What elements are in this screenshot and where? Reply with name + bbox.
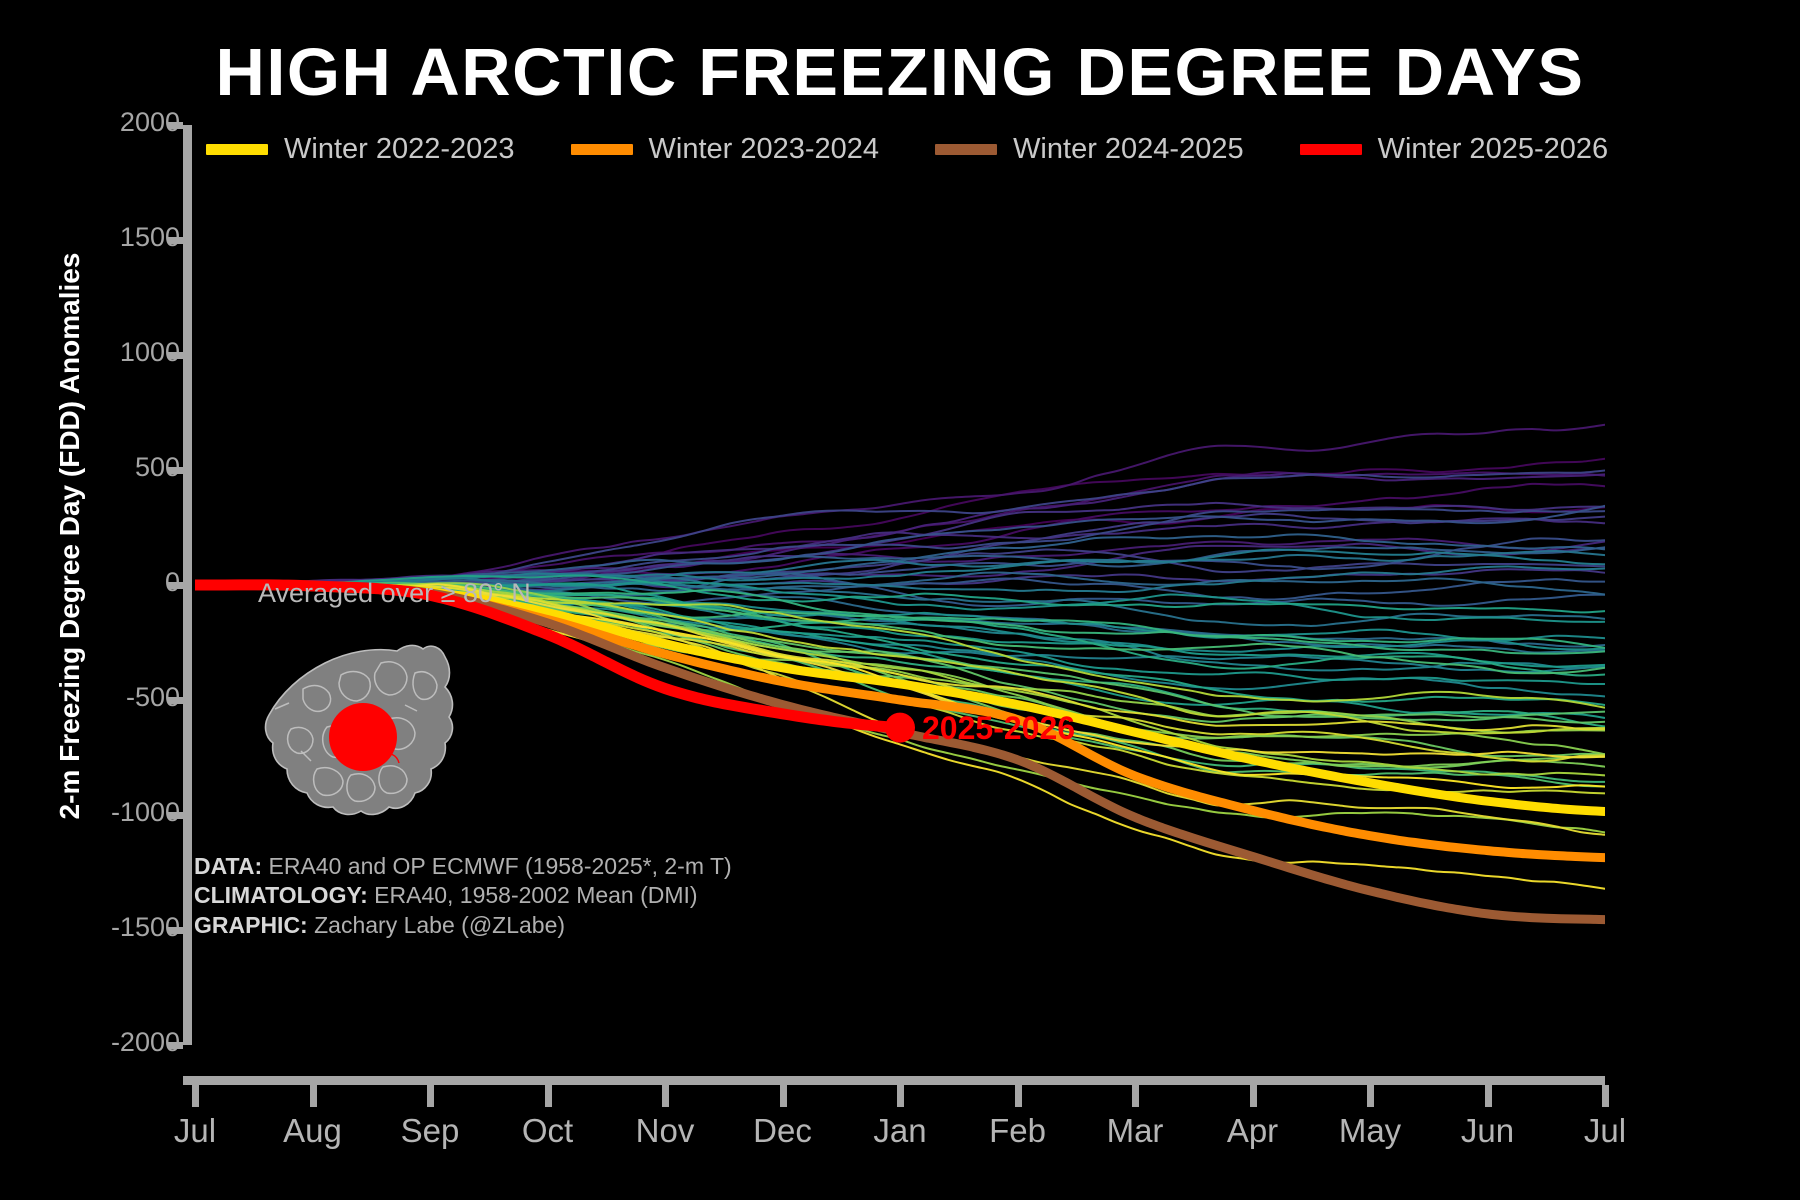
x-axis-tick-mark: [897, 1085, 904, 1107]
x-axis-tick-mark: [1250, 1085, 1257, 1107]
credit-line: DATA: ERA40 and OP ECMWF (1958-2025*, 2-…: [194, 852, 732, 881]
x-axis-tick-mark: [1367, 1085, 1374, 1107]
x-axis-tick-mark: [310, 1085, 317, 1107]
credit-line: GRAPHIC: Zachary Labe (@ZLabe): [194, 911, 732, 940]
chart-title: HIGH ARCTIC FREEZING DEGREE DAYS: [0, 34, 1800, 111]
averaged-region-note: Averaged over ≥ 80° N: [258, 578, 531, 609]
x-axis-tick-mark: [1602, 1085, 1609, 1107]
y-axis-spine: [183, 125, 192, 1045]
y-axis-tick-mark: [168, 237, 183, 244]
current-season-label: 2025-2026: [922, 710, 1075, 747]
x-axis-tick-mark: [780, 1085, 787, 1107]
y-axis-tick-label: -2000: [50, 1027, 180, 1058]
y-axis-tick-mark: [168, 812, 183, 819]
y-axis-tick-mark: [168, 467, 183, 474]
x-axis-spine: [183, 1076, 1605, 1085]
x-axis-tick-mark: [662, 1085, 669, 1107]
y-axis-tick-mark: [168, 122, 183, 129]
x-axis-tick-mark: [1132, 1085, 1139, 1107]
ensemble-year-line: [195, 472, 1605, 585]
credits-block: DATA: ERA40 and OP ECMWF (1958-2025*, 2-…: [194, 852, 732, 940]
x-axis-tick-label: Jul: [1535, 1112, 1675, 1150]
x-axis-tick-mark: [192, 1085, 199, 1107]
chart-canvas: HIGH ARCTIC FREEZING DEGREE DAYS Winter …: [0, 0, 1800, 1200]
current-season-endpoint-marker: [885, 713, 915, 743]
ensemble-year-line: [195, 471, 1605, 586]
credit-line: CLIMATOLOGY: ERA40, 1958-2002 Mean (DMI): [194, 881, 732, 910]
x-axis-tick-mark: [1015, 1085, 1022, 1107]
y-axis-tick-mark: [168, 697, 183, 704]
y-axis-tick-mark: [168, 352, 183, 359]
y-axis-label: 2-m Freezing Degree Day (FDD) Anomalies: [54, 126, 86, 946]
x-axis-tick-mark: [427, 1085, 434, 1107]
x-axis-tick-mark: [545, 1085, 552, 1107]
x-axis-tick-mark: [1485, 1085, 1492, 1107]
polar-inset-map: [255, 619, 470, 834]
y-axis-tick-mark: [168, 1042, 183, 1049]
ensemble-year-line: [195, 473, 1605, 585]
y-axis-tick-mark: [168, 927, 183, 934]
y-axis-tick-mark: [168, 582, 183, 589]
polar-cap-highlight-icon: [329, 703, 397, 771]
